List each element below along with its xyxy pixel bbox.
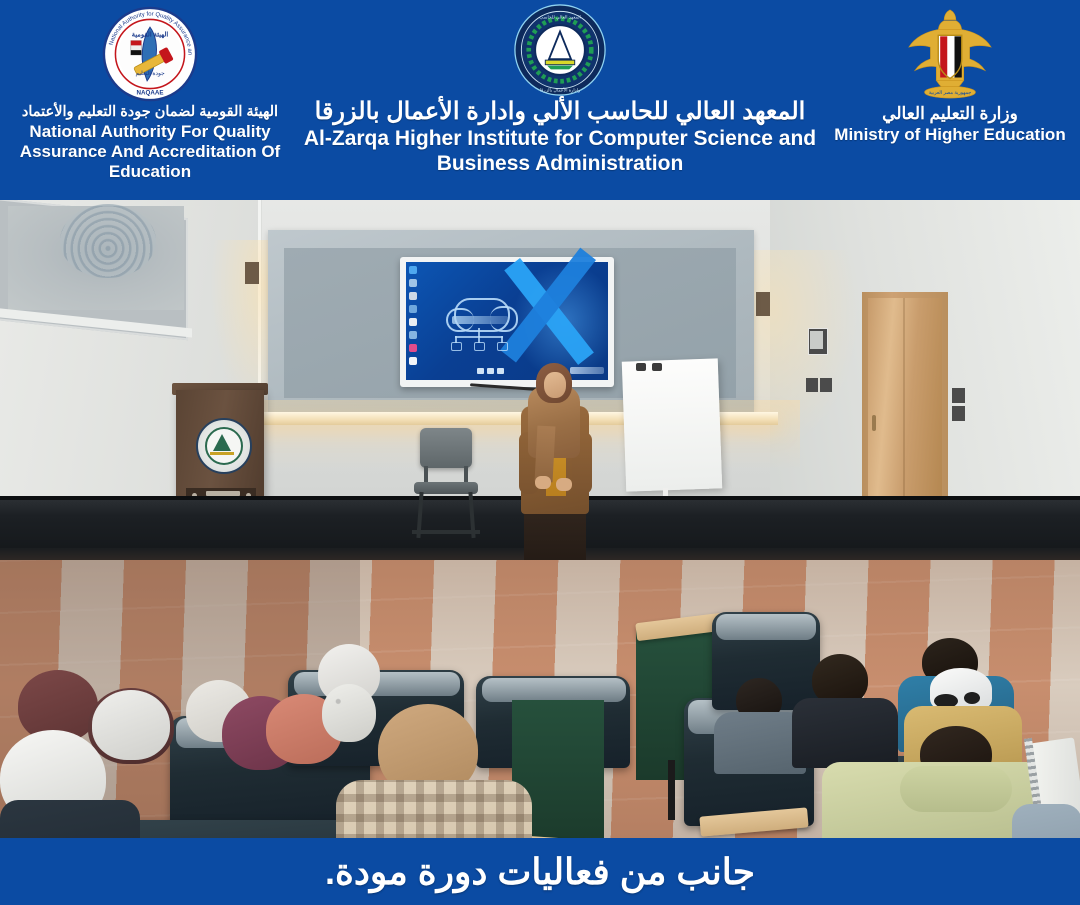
dock-icon-7 (409, 344, 417, 352)
student-body-f7-patterned (336, 780, 532, 838)
power-socket-2 (952, 406, 965, 421)
svg-text:الهيئة القومية: الهيئة القومية (132, 31, 169, 39)
right-wall-sconce (756, 292, 770, 316)
student-head-speckled-hijab (322, 684, 376, 742)
header-right-block: جمهورية مصر العربية وزارة التعليم العالي… (820, 0, 1080, 200)
dock-icon-4 (409, 305, 417, 313)
poster-root: الهيئة القومية جودة التعليم NAQAAE Natio… (0, 0, 1080, 905)
seat-right-3-cover (716, 614, 816, 640)
header-left-block: الهيئة القومية جودة التعليم NAQAAE Natio… (0, 0, 300, 200)
classroom-lecture-photo (0, 200, 1080, 838)
presenter-scarf-drape (535, 426, 556, 483)
dock-icon-3 (409, 292, 417, 300)
seat-left-3-cover (482, 678, 626, 702)
flipchart-clip-left (636, 363, 646, 371)
student-head-f3-white-hijab (92, 690, 170, 760)
light-switch-2 (820, 378, 832, 392)
flipchart-clip-right (652, 363, 662, 371)
cloud-logo-node-3 (497, 342, 508, 351)
screen-status-bar (570, 367, 604, 374)
screen-control-3 (497, 368, 504, 374)
presenter-face (544, 372, 566, 398)
stage-chair-back (420, 428, 472, 468)
door-handle (872, 415, 876, 431)
svg-text:جمهورية مصر العربية: جمهورية مصر العربية (929, 90, 972, 96)
stage-chair-rail (412, 530, 480, 534)
naqaae-english-name: National Authority For Quality Assurance… (0, 122, 300, 182)
egypt-eagle-emblem: جمهورية مصر العربية (901, 4, 999, 102)
seat-row-right-1-leg (668, 760, 675, 820)
screen-control-2 (487, 368, 494, 374)
header-band: الهيئة القومية جودة التعليم NAQAAE Natio… (0, 0, 1080, 200)
header-center-block: المعهد العالي للحاسب وادارة الأعمال بالز… (300, 0, 820, 200)
hoodie-hood (900, 766, 1012, 812)
podium-seal-sail (213, 434, 231, 451)
institute-english-name: Al-Zarqa Higher Institute for Computer S… (300, 127, 820, 177)
wall-control-panel-face (810, 331, 823, 349)
al-zarqa-institute-logo: المعهد العالي للحاسب وادارة الأعمال بالز… (514, 4, 606, 96)
naqaae-arabic-name: الهيئة القومية لضمان جودة التعليم والأعت… (0, 104, 300, 121)
power-socket-1 (952, 388, 965, 403)
presenter-hand-right (556, 478, 572, 491)
svg-text:وادارة الأعمال بالزرقا: وادارة الأعمال بالزرقا (540, 85, 581, 93)
flipchart-board (622, 358, 722, 491)
ministry-arabic-name: وزارة التعليم العالي (834, 104, 1065, 124)
student-body-m2 (792, 698, 898, 768)
dock-icon-5 (409, 318, 417, 326)
svg-text:NAQAAE: NAQAAE (136, 89, 163, 96)
light-switch-1 (806, 378, 818, 392)
institute-arabic-name: المعهد العالي للحاسب الألي وادارة الأعما… (300, 98, 820, 126)
student-arm-notebook (1012, 804, 1080, 838)
caption-band: جانب من فعاليات دورة مودة. (0, 838, 1080, 905)
podium-seal-bar (210, 452, 234, 455)
dock-icon-1 (409, 266, 417, 274)
dock-icon-2 (409, 279, 417, 287)
dock-icon-8 (409, 357, 417, 365)
left-wall-sconce (245, 262, 259, 284)
dock-icon-6 (409, 331, 417, 339)
svg-text:جودة التعليم: جودة التعليم (135, 70, 164, 77)
naqaae-logo: الهيئة القومية جودة التعليم NAQAAE Natio… (102, 6, 198, 102)
caption-text: جانب من فعاليات دورة مودة. (325, 851, 755, 893)
wall-artwork-pattern (60, 204, 156, 278)
presenter-hand-left (535, 476, 551, 489)
screen-control-1 (477, 368, 484, 374)
cloud-logo-node-1 (451, 342, 462, 351)
ministry-english-name: Ministry of Higher Education (834, 125, 1065, 145)
cloud-logo-wordmark (452, 316, 508, 324)
screen-sidebar-dock (409, 266, 418, 376)
cloud-logo-node-2 (474, 342, 485, 351)
student-body-f4 (0, 800, 140, 838)
cap-logo-accent (964, 692, 980, 704)
